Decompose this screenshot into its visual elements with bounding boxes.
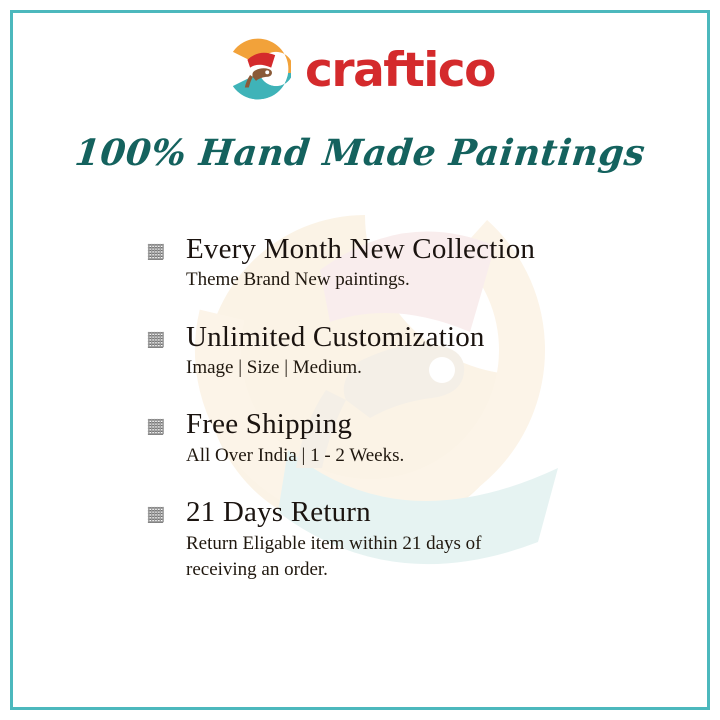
- list-item: 21 Days Return Return Eligable item with…: [146, 496, 616, 583]
- woven-square-bullet-icon: [146, 330, 165, 349]
- woven-square-bullet-icon: [146, 505, 165, 524]
- craftico-c-paintbrush-logo-icon: [225, 36, 291, 102]
- brand-wordmark: craftico: [305, 47, 495, 94]
- list-item: Unlimited Customization Image | Size | M…: [146, 321, 616, 382]
- feature-list: Every Month New Collection Theme Brand N…: [146, 233, 616, 583]
- feature-title: Free Shipping: [186, 408, 616, 440]
- feature-description: All Over India | 1 - 2 Weeks.: [186, 443, 616, 469]
- feature-title: Unlimited Customization: [186, 321, 616, 353]
- feature-description: Theme Brand New paintings.: [186, 267, 616, 293]
- feature-title: 21 Days Return: [186, 496, 616, 528]
- list-item: Every Month New Collection Theme Brand N…: [146, 233, 616, 294]
- list-item: Free Shipping All Over India | 1 - 2 Wee…: [146, 408, 616, 469]
- woven-square-bullet-icon: [146, 417, 165, 436]
- feature-title: Every Month New Collection: [186, 233, 616, 265]
- brand-logo: craftico: [0, 36, 720, 102]
- promo-banner: craftico 100% Hand Made Paintings Every …: [0, 0, 720, 720]
- feature-description: Image | Size | Medium.: [186, 355, 616, 381]
- woven-square-bullet-icon: [146, 242, 165, 261]
- feature-description: Return Eligable item within 21 days of r…: [186, 531, 546, 583]
- page-title: 100% Hand Made Paintings: [0, 132, 720, 174]
